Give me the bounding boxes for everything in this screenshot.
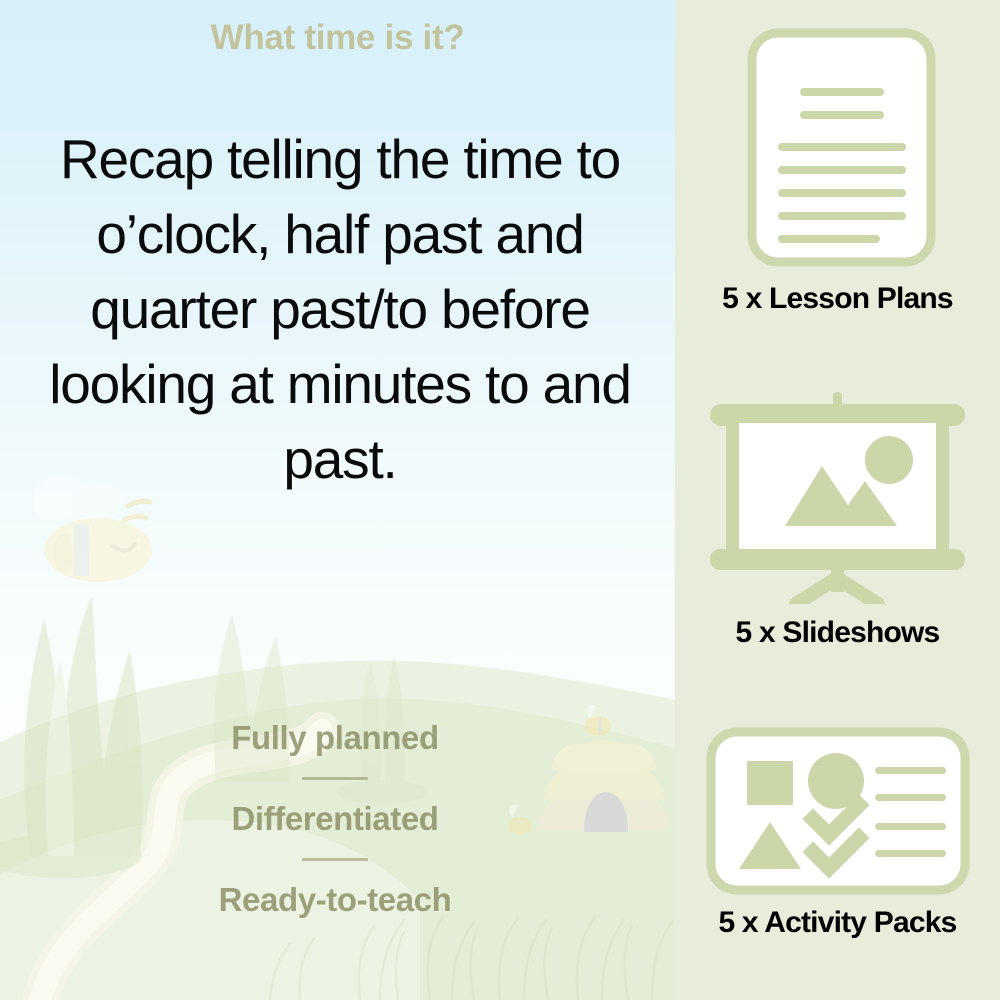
asset-item-activity-packs[interactable]: 5 x Activity Packs xyxy=(675,726,1000,940)
slide-canvas: What time is it? Recap telling the time … xyxy=(0,0,1000,1000)
feature-divider-2 xyxy=(302,858,368,861)
asset-item-slideshows[interactable]: 5 x Slideshows xyxy=(675,392,1000,650)
feature-divider-1 xyxy=(302,777,368,780)
asset-label-slideshows: 5 x Slideshows xyxy=(675,616,1000,650)
content-panel: What time is it? Recap telling the time … xyxy=(0,0,675,1000)
activity-card-icon xyxy=(675,726,1000,896)
feature-list: Fully planned Differentiated Ready-to-te… xyxy=(135,718,535,920)
beehive-illustration xyxy=(538,740,670,832)
asset-label-activity-packs: 5 x Activity Packs xyxy=(675,906,1000,940)
lesson-description-text: Recap telling the time to o’clock, half … xyxy=(40,122,640,497)
asset-label-lesson-plans: 5 x Lesson Plans xyxy=(675,282,1000,316)
asset-item-lesson-plans[interactable]: 5 x Lesson Plans xyxy=(675,28,1000,316)
page-title: What time is it? xyxy=(0,18,675,58)
assets-panel: 5 x Lesson Plans xyxy=(675,0,1000,1000)
feature-item-differentiated: Differentiated xyxy=(135,799,535,839)
presentation-screen-icon xyxy=(675,392,1000,604)
feature-item-fully-planned: Fully planned xyxy=(135,718,535,758)
feature-item-ready-to-teach: Ready-to-teach xyxy=(135,880,535,920)
document-icon xyxy=(675,28,1000,268)
